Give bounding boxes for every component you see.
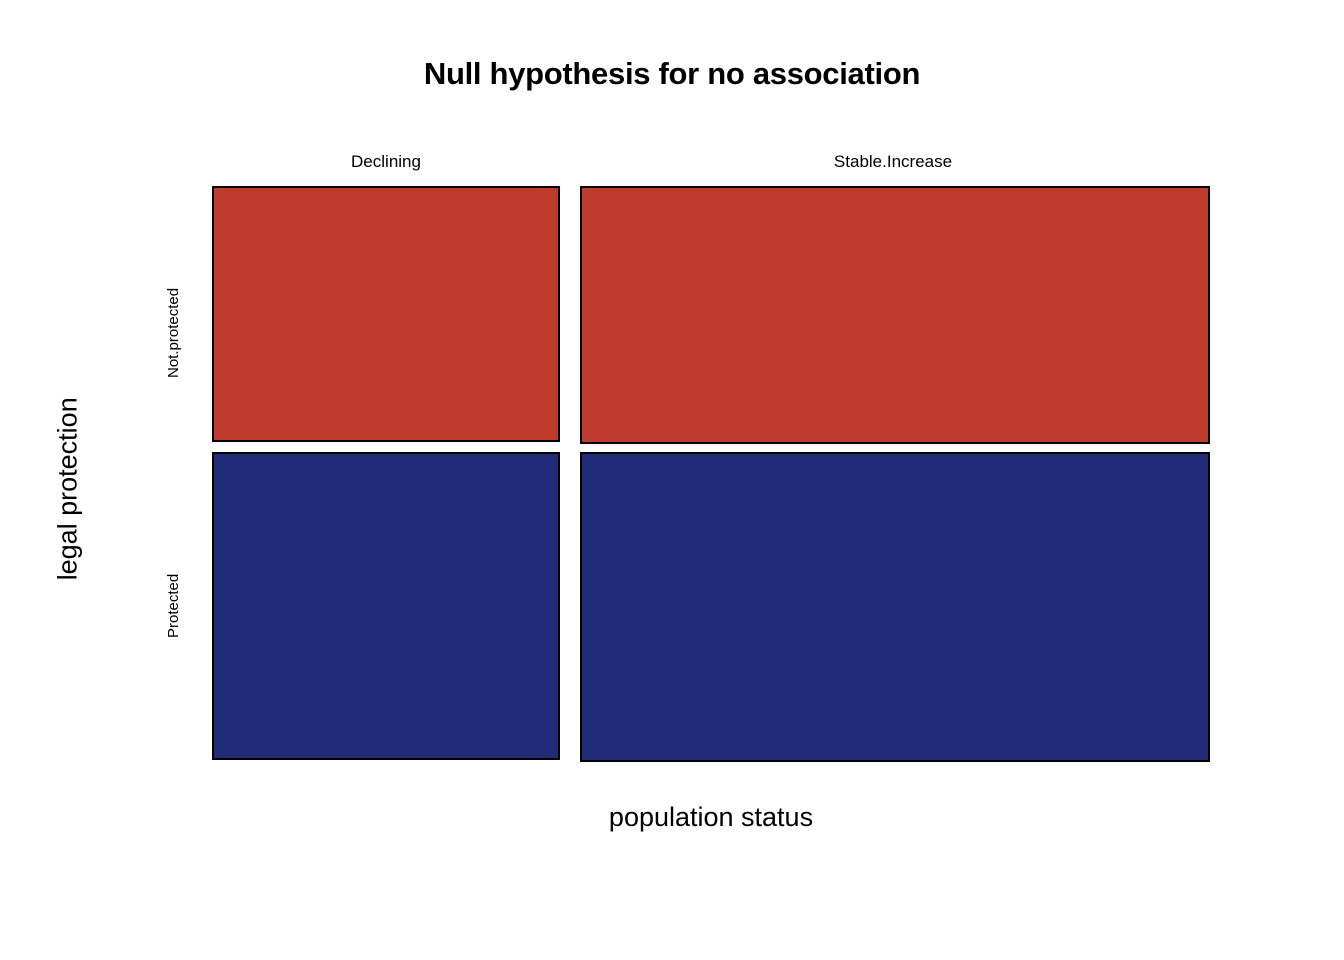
- mosaic-plot-area: [212, 186, 1210, 762]
- y-axis-title: legal protection: [53, 397, 83, 580]
- column-label-declining: Declining: [351, 153, 421, 172]
- column-label-stable-increase: Stable.Increase: [834, 153, 952, 172]
- row-label-protected: Protected: [166, 574, 183, 638]
- tile-stable-increase-not-protected[interactable]: [580, 186, 1210, 444]
- tile-declining-protected[interactable]: [212, 452, 560, 760]
- x-axis-title: population status: [212, 803, 1210, 833]
- row-label-not-protected: Not.protected: [166, 288, 183, 378]
- chart-title: Null hypothesis for no association: [0, 57, 1344, 91]
- tile-declining-not-protected[interactable]: [212, 186, 560, 442]
- tile-stable-increase-protected[interactable]: [580, 452, 1210, 762]
